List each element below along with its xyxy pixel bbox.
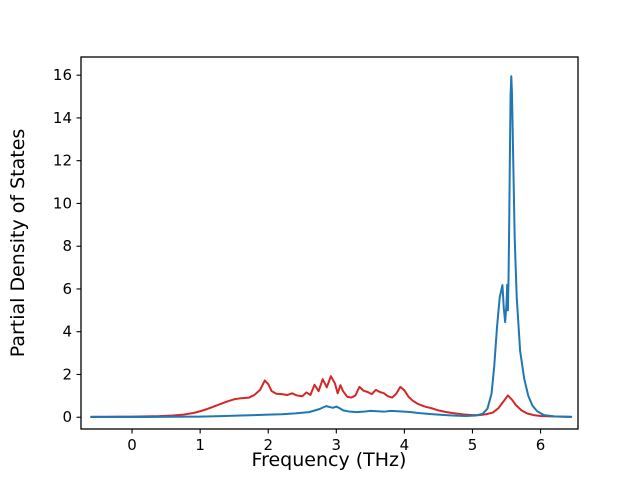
matplotlib-figure: 0123456 0246810121416 Frequency (THz) Pa…: [0, 0, 640, 480]
x-tick-label: 6: [536, 436, 546, 454]
y-tick-label: 4: [62, 323, 72, 341]
y-tick-label: 14: [53, 109, 72, 127]
y-tick-label: 10: [53, 194, 72, 212]
axes-background: [81, 57, 578, 429]
y-tick-label: 6: [62, 280, 72, 298]
y-tick-label: 12: [53, 152, 72, 170]
y-axis-label: Partial Density of States: [7, 129, 29, 358]
y-tick-label: 0: [62, 408, 72, 426]
x-tick-label: 1: [195, 436, 205, 454]
y-tick-label: 2: [62, 365, 72, 383]
pdos-plot: 0123456 0246810121416 Frequency (THz) Pa…: [0, 0, 640, 480]
x-tick-label: 5: [468, 436, 478, 454]
x-axis-label: Frequency (THz): [252, 449, 407, 471]
x-tick-label: 0: [127, 436, 137, 454]
y-tick-label: 8: [62, 237, 72, 255]
y-tick-label: 16: [53, 66, 72, 84]
